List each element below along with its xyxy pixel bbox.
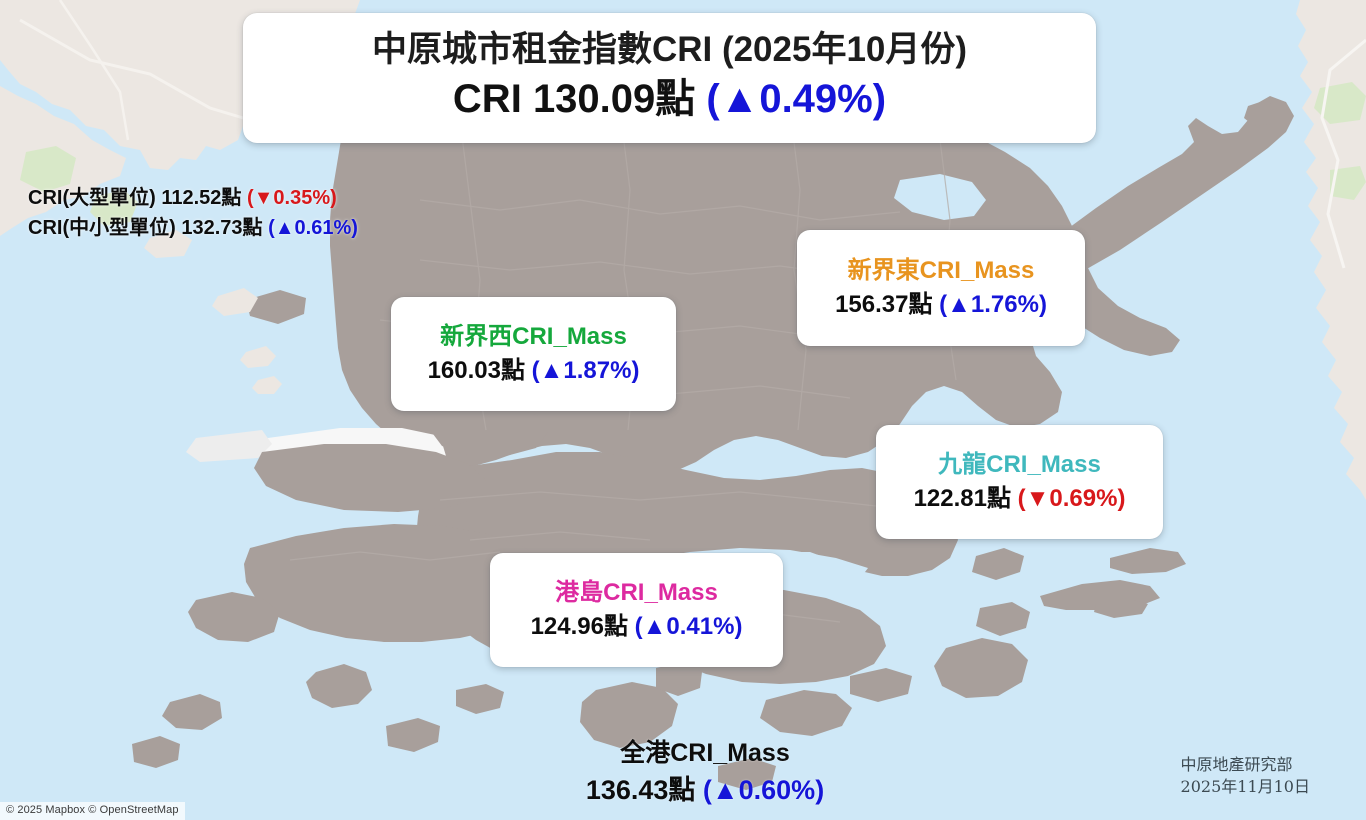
region-points-kowloon: 122.81點	[914, 485, 1011, 512]
index-change-badge: (▲0.49%)	[706, 77, 886, 121]
region-points-new-territories-east: 156.37點	[835, 291, 932, 318]
sub-stat-value-small: 132.73點	[181, 217, 262, 239]
region-change-kowloon: (▼0.69%)	[1018, 485, 1126, 512]
region-label-kowloon: 九龍CRI_Mass	[938, 448, 1101, 482]
credits-block: 中原地產研究部 2025年11月10日	[1181, 754, 1310, 798]
region-label-new-territories-west: 新界西CRI_Mass	[440, 320, 627, 354]
sub-stat-row-small: CRI(中小型單位) 132.73點 (▲0.61%)	[28, 213, 358, 243]
title-card: 中原城市租金指數CRI (2025年10月份) CRI 130.09點 (▲0.…	[243, 13, 1096, 143]
sub-stat-change-small: (▲0.61%)	[268, 217, 358, 239]
overall-territory-block: 全港CRI_Mass 136.43點 (▲0.60%)	[505, 735, 905, 809]
region-card-hong-kong-island[interactable]: 港島CRI_Mass 124.96點 (▲0.41%)	[490, 553, 783, 667]
region-change-hong-kong-island: (▲0.41%)	[635, 613, 743, 640]
sub-statistics-block: CRI(大型單位) 112.52點 (▼0.35%) CRI(中小型單位) 13…	[28, 183, 358, 243]
sub-stat-row-large: CRI(大型單位) 112.52點 (▼0.35%)	[28, 183, 358, 213]
sub-stat-label-large: CRI(大型單位)	[28, 187, 156, 209]
credits-date: 2025年11月10日	[1181, 776, 1310, 798]
map-attribution[interactable]: © 2025 Mapbox © OpenStreetMap	[0, 802, 185, 820]
sub-stat-label-small: CRI(中小型單位)	[28, 217, 176, 239]
region-card-new-territories-east[interactable]: 新界東CRI_Mass 156.37點 (▲1.76%)	[797, 230, 1085, 346]
map-screenshot-root: © 2025 Mapbox © OpenStreetMap 中原城市租金指數CR…	[0, 0, 1366, 820]
region-points-hong-kong-island: 124.96點	[531, 613, 628, 640]
region-points-new-territories-west: 160.03點	[428, 357, 525, 384]
sub-stat-change-large: (▼0.35%)	[247, 187, 337, 209]
region-value-kowloon: 122.81點 (▼0.69%)	[914, 482, 1126, 516]
overall-index-line: CRI 130.09點 (▲0.49%)	[453, 73, 886, 125]
region-value-hong-kong-island: 124.96點 (▲0.41%)	[531, 610, 743, 644]
region-value-new-territories-east: 156.37點 (▲1.76%)	[835, 288, 1047, 322]
sub-stat-value-large: 112.52點	[161, 187, 241, 209]
region-label-hong-kong-island: 港島CRI_Mass	[555, 576, 718, 610]
region-value-new-territories-west: 160.03點 (▲1.87%)	[428, 354, 640, 388]
overall-value-line: 136.43點 (▲0.60%)	[505, 771, 905, 809]
region-label-new-territories-east: 新界東CRI_Mass	[848, 254, 1035, 288]
index-value: 130.09點	[533, 77, 695, 121]
region-change-new-territories-east: (▲1.76%)	[939, 291, 1047, 318]
region-card-new-territories-west[interactable]: 新界西CRI_Mass 160.03點 (▲1.87%)	[391, 297, 676, 411]
title-heading: 中原城市租金指數CRI (2025年10月份)	[372, 27, 967, 73]
overall-change: (▲0.60%)	[703, 775, 824, 805]
credits-organisation: 中原地產研究部	[1181, 754, 1310, 776]
index-label: CRI	[453, 77, 522, 121]
region-change-new-territories-west: (▲1.87%)	[532, 357, 640, 384]
overall-label: 全港CRI_Mass	[505, 735, 905, 771]
overall-points: 136.43點	[586, 775, 696, 805]
region-card-kowloon[interactable]: 九龍CRI_Mass 122.81點 (▼0.69%)	[876, 425, 1163, 539]
